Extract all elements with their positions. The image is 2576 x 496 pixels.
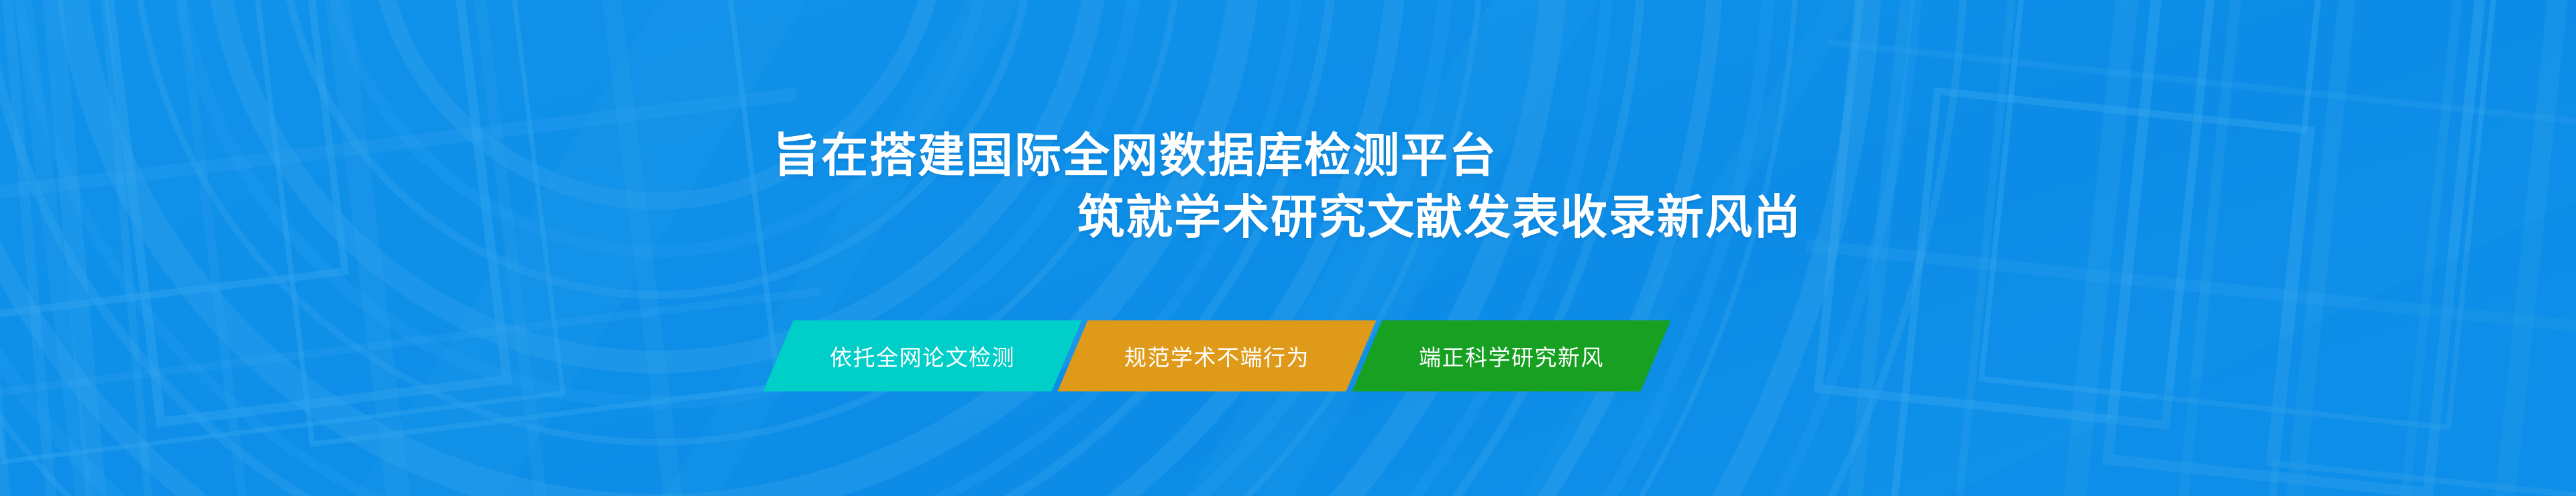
feature-tag-research-integrity[interactable]: 端正科学研究新风: [1352, 320, 1671, 391]
background-decoration: [0, 0, 2576, 496]
headline-line-2: 筑就学术研究文献发表收录新风尚: [1077, 186, 2576, 248]
feature-tag-strip: 依托全网论文检测 规范学术不端行为 端正科学研究新风: [778, 320, 1656, 391]
feature-tag-misconduct-regulation[interactable]: 规范学术不端行为: [1058, 320, 1377, 391]
feature-tag-label: 依托全网论文检测: [830, 340, 1015, 372]
feature-tag-paper-detection[interactable]: 依托全网论文检测: [763, 320, 1082, 391]
headline-line-1: 旨在搭建国际全网数据库检测平台: [773, 125, 2576, 186]
headline-block: 旨在搭建国际全网数据库检测平台 筑就学术研究文献发表收录新风尚: [0, 125, 2576, 248]
feature-tag-label: 规范学术不端行为: [1124, 340, 1309, 372]
feature-tag-label: 端正科学研究新风: [1419, 340, 1604, 372]
hero-banner: 旨在搭建国际全网数据库检测平台 筑就学术研究文献发表收录新风尚 依托全网论文检测…: [0, 0, 2576, 496]
